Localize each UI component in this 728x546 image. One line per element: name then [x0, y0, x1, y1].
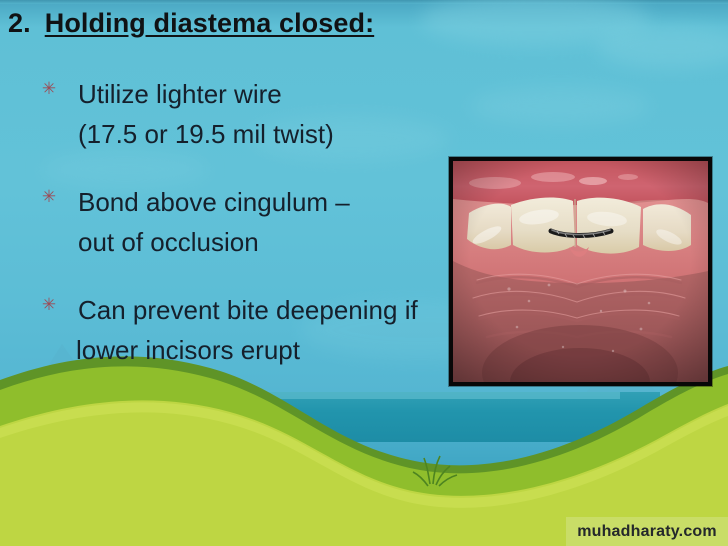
list-item-text: Bond above cingulum – out of occlusion — [78, 182, 460, 262]
list-item-line: Bond above cingulum – — [78, 182, 460, 222]
list-item: ✳ Bond above cingulum – out of occlusion — [40, 182, 460, 262]
list-item: ✳ Utilize lighter wire (17.5 or 19.5 mil… — [40, 74, 460, 154]
list-item-line: (17.5 or 19.5 mil twist) — [78, 114, 460, 154]
list-item-line: Can prevent bite deepening if — [78, 290, 460, 330]
watermark-band: muhadharaty.com — [566, 517, 728, 546]
list-item-text: Utilize lighter wire (17.5 or 19.5 mil t… — [78, 74, 460, 154]
bullet-list: ✳ Utilize lighter wire (17.5 or 19.5 mil… — [40, 74, 460, 398]
page-title: 2.Holding diastema closed: — [8, 8, 374, 39]
list-item-line: lower incisors erupt — [76, 330, 460, 370]
intraoral-photo-graphic — [453, 161, 708, 382]
asterisk-bullet-icon: ✳ — [40, 291, 58, 319]
list-item-line: Utilize lighter wire — [78, 74, 460, 114]
asterisk-bullet-icon: ✳ — [40, 75, 58, 103]
asterisk-bullet-icon: ✳ — [40, 183, 58, 211]
slide: 2.Holding diastema closed: ✳ Utilize lig… — [0, 0, 728, 546]
cloud-shape — [470, 86, 650, 126]
watermark-text: muhadharaty.com — [577, 523, 717, 541]
title-text: Holding diastema closed: — [45, 8, 374, 38]
list-item-line: out of occlusion — [78, 222, 460, 262]
list-item: ✳ Can prevent bite deepening if lower in… — [40, 290, 460, 370]
clinical-photo — [449, 157, 712, 386]
title-number: 2. — [8, 8, 31, 38]
list-item-text: Can prevent bite deepening if lower inci… — [78, 290, 460, 370]
